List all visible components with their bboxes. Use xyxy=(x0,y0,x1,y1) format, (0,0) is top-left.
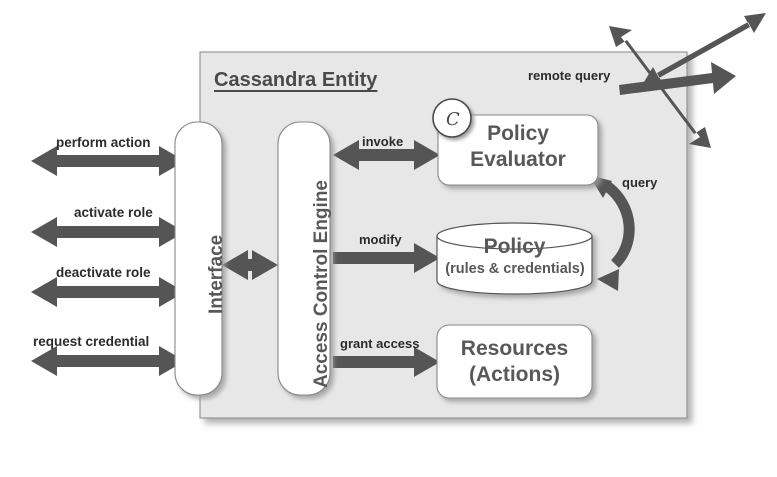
node-label-access-control-engine: Access Control Engine xyxy=(311,180,333,388)
node-label-resources-line2: (Actions) xyxy=(437,364,592,386)
flow-label-grant-access: grant access xyxy=(340,337,420,350)
arrow-request-credential xyxy=(31,346,185,376)
flow-label-perform-action: perform action xyxy=(56,136,151,150)
node-policy-store[interactable] xyxy=(437,223,592,294)
flow-label-deactivate-role: deactivate role xyxy=(56,266,151,280)
node-label-policy-evaluator-line2: Evaluator xyxy=(438,149,598,171)
flow-label-invoke: invoke xyxy=(362,135,403,148)
arrow-perform-action xyxy=(31,146,185,176)
arrow-activate-role xyxy=(31,217,185,247)
c-badge-glyph: C xyxy=(446,109,460,130)
node-label-resources-line1: Resources xyxy=(437,338,592,360)
flow-label-remote-query: remote query xyxy=(528,69,610,82)
arrow-deactivate-role xyxy=(31,277,185,307)
page-title: Cassandra Entity xyxy=(214,70,377,90)
node-label-policy-evaluator-line1: Policy xyxy=(438,123,598,145)
diagram-canvas: Cassandra Entity perform action activate… xyxy=(0,0,777,477)
node-resources[interactable] xyxy=(437,325,592,398)
node-label-interface: Interface xyxy=(206,235,228,314)
flow-label-query: query xyxy=(622,176,657,189)
flow-label-activate-role: activate role xyxy=(74,206,153,220)
node-label-policy-store-line1: Policy xyxy=(437,236,592,258)
flow-label-request-credential: request credential xyxy=(33,335,149,349)
flow-label-modify: modify xyxy=(359,233,402,246)
node-label-policy-store-line2: (rules & credentials) xyxy=(430,262,600,277)
